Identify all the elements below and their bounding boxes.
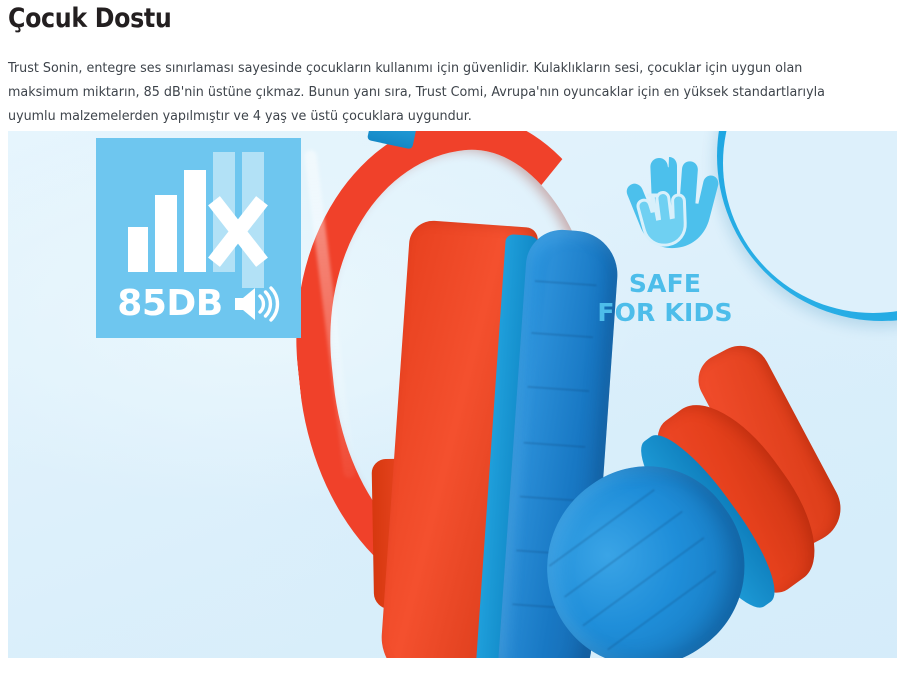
safe-for-kids-badge: SAFE FOR KIDS <box>590 149 740 327</box>
product-feature-section: Çocuk Dostu Trust Sonin, entegre ses sın… <box>0 0 897 673</box>
safe-line-1: SAFE <box>590 269 740 298</box>
db-label-row: 85DB <box>96 284 301 324</box>
section-description: Trust Sonin, entegre ses sınırlaması say… <box>8 57 865 129</box>
two-hands-icon <box>611 149 719 261</box>
speaker-waves-icon <box>232 284 280 324</box>
db-limit-badge: 85DB <box>96 138 301 338</box>
safe-line-2: FOR KIDS <box>590 298 740 327</box>
signal-bar-3 <box>184 170 206 272</box>
cross-x-icon <box>204 200 272 262</box>
signal-bar-1 <box>128 227 148 272</box>
safe-for-kids-text: SAFE FOR KIDS <box>590 269 740 327</box>
signal-bar-2 <box>155 195 177 272</box>
page-title: Çocuk Dostu <box>8 2 171 36</box>
signal-bars-icon <box>96 152 301 272</box>
db-value-label: 85DB <box>117 286 222 322</box>
product-hero-image: 85DB SAFE <box>8 131 897 658</box>
